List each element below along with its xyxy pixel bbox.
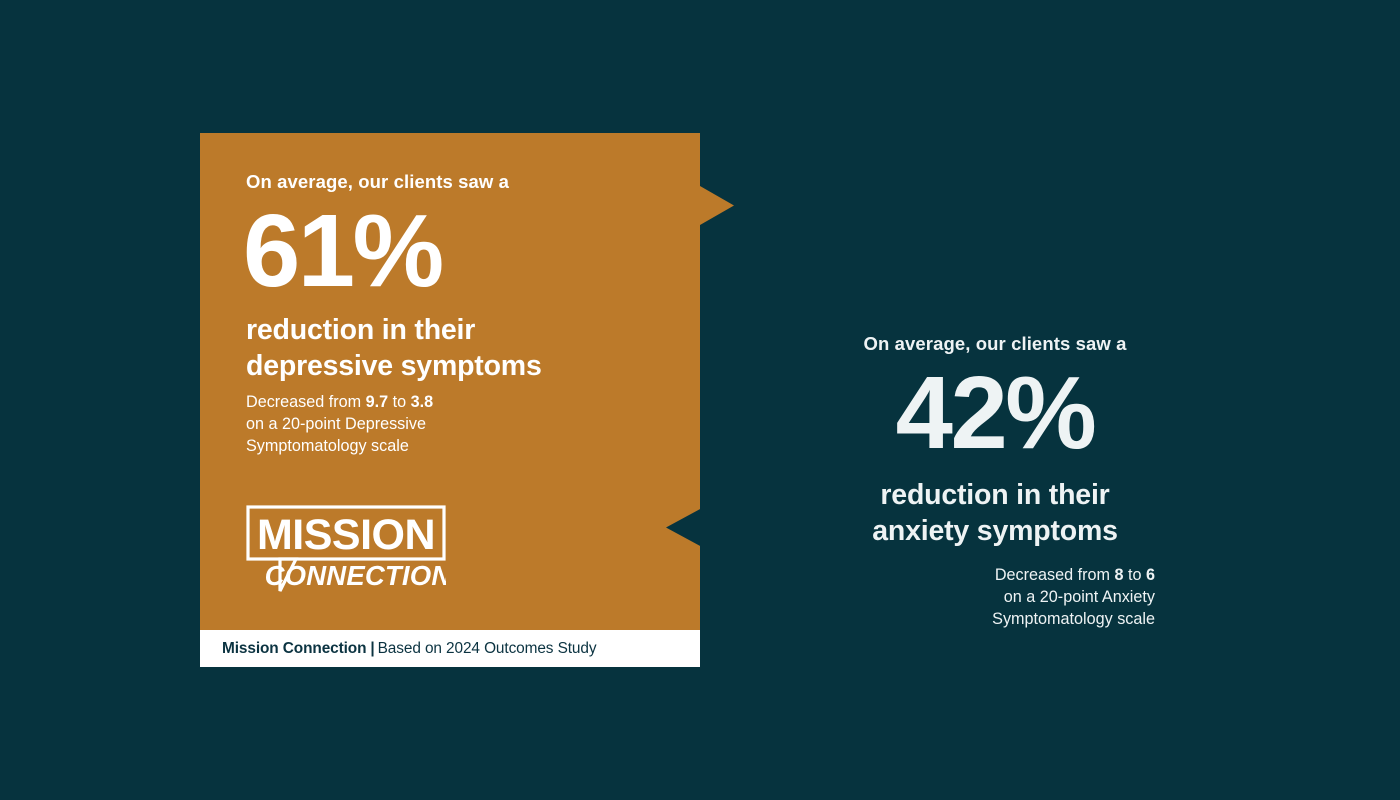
depression-detail-middle: to — [388, 393, 411, 411]
depression-subheadline: reduction in their depressive symptoms — [246, 313, 646, 385]
anxiety-detail-line2: on a 20-point Anxiety — [795, 586, 1155, 608]
anxiety-detail-line3: Symptomatology scale — [795, 608, 1155, 630]
depression-stat-value: 61% — [243, 199, 442, 302]
infographic-stage: On average, our clients saw a 61% reduct… — [0, 0, 1400, 800]
anxiety-subheadline-line2: anxiety symptoms — [795, 514, 1195, 550]
footer-study-reference: Based on 2024 Outcomes Study — [378, 640, 597, 657]
anxiety-score-after: 6 — [1146, 566, 1155, 584]
footer-separator: | — [366, 640, 377, 657]
anxiety-detail-middle: to — [1123, 566, 1146, 584]
logo-top-word: MISSION — [257, 511, 435, 559]
anxiety-detail-prefix: Decreased from — [995, 566, 1115, 584]
depression-detail-line1: Decreased from 9.7 to 3.8 — [246, 391, 546, 413]
mission-connection-logo: MISSION CONNECTION — [246, 505, 446, 593]
depression-card-content: On average, our clients saw a 61% reduct… — [246, 133, 700, 630]
anxiety-detail-line1: Decreased from 8 to 6 — [795, 564, 1155, 586]
arrow-right-icon — [700, 186, 734, 225]
depression-subheadline-line1: reduction in their — [246, 313, 646, 349]
depression-subheadline-line2: depressive symptoms — [246, 349, 646, 385]
depression-eyebrow-text: On average, our clients saw a — [246, 171, 509, 193]
depression-detail-text: Decreased from 9.7 to 3.8 on a 20-point … — [246, 391, 546, 457]
logo-bottom-word: CONNECTION — [265, 560, 446, 591]
depression-score-after: 3.8 — [411, 393, 434, 411]
anxiety-eyebrow-text: On average, our clients saw a — [795, 333, 1195, 355]
anxiety-detail-text: Decreased from 8 to 6 on a 20-point Anxi… — [795, 564, 1195, 630]
arrow-left-notch-icon — [666, 508, 702, 547]
depression-detail-line3: Symptomatology scale — [246, 435, 546, 457]
depression-detail-line2: on a 20-point Depressive — [246, 413, 546, 435]
footer-attribution: Mission Connection|Based on 2024 Outcome… — [222, 640, 596, 658]
anxiety-stat-panel: On average, our clients saw a 42% reduct… — [795, 333, 1195, 630]
footer-brand-name: Mission Connection — [222, 640, 366, 657]
anxiety-stat-value: 42% — [795, 361, 1195, 464]
depression-detail-prefix: Decreased from — [246, 393, 366, 411]
anxiety-subheadline: reduction in their anxiety symptoms — [795, 478, 1195, 550]
anxiety-subheadline-line1: reduction in their — [795, 478, 1195, 514]
depression-stat-card: On average, our clients saw a 61% reduct… — [200, 133, 700, 630]
depression-score-before: 9.7 — [366, 393, 389, 411]
source-footer-bar: Mission Connection|Based on 2024 Outcome… — [200, 630, 700, 667]
